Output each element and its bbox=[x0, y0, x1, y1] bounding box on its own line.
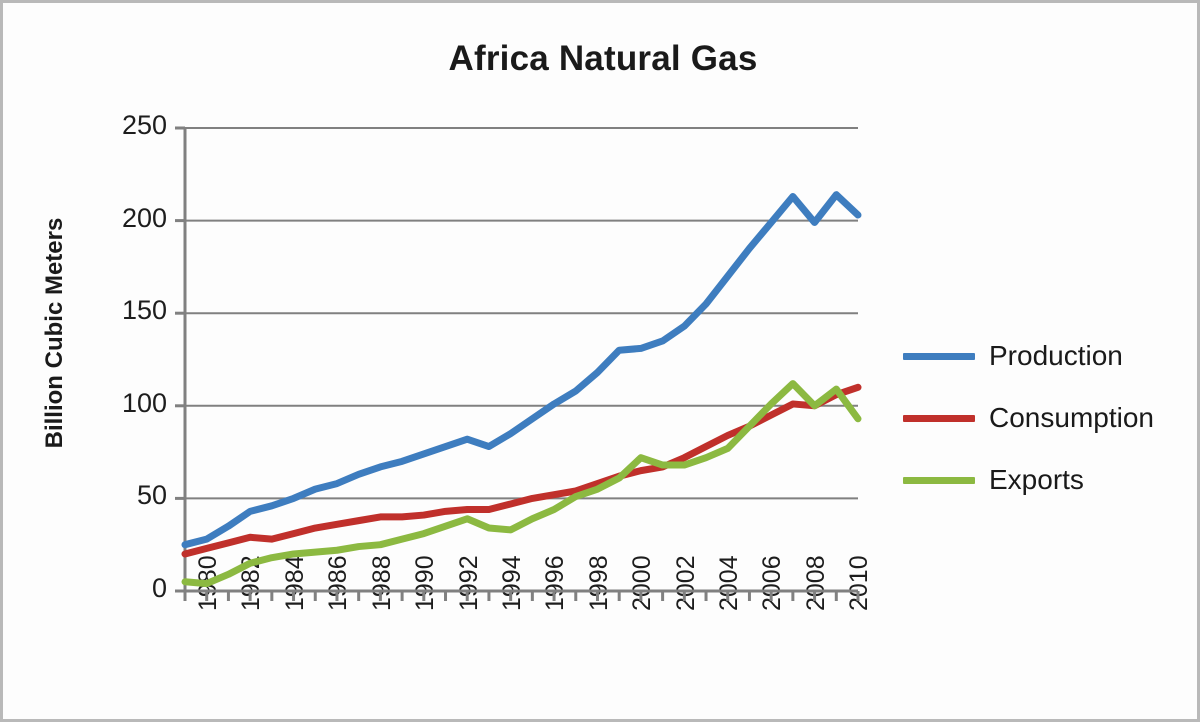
chart-container: Africa Natural Gas Billion Cubic Meters … bbox=[0, 0, 1200, 722]
series-line-consumption bbox=[185, 387, 858, 554]
data-series-layer bbox=[185, 195, 858, 584]
legend-item-exports[interactable]: Exports bbox=[903, 449, 1154, 511]
series-line-production bbox=[185, 195, 858, 545]
legend-item-label: Consumption bbox=[989, 404, 1154, 432]
gridlines bbox=[185, 128, 858, 498]
legend-color-swatch bbox=[903, 415, 975, 422]
legend-color-swatch bbox=[903, 353, 975, 360]
chart-legend: ProductionConsumptionExports bbox=[903, 325, 1154, 511]
legend-item-label: Exports bbox=[989, 466, 1084, 494]
legend-item-production[interactable]: Production bbox=[903, 325, 1154, 387]
legend-item-consumption[interactable]: Consumption bbox=[903, 387, 1154, 449]
legend-item-label: Production bbox=[989, 342, 1123, 370]
series-line-exports bbox=[185, 384, 858, 584]
legend-color-swatch bbox=[903, 477, 975, 484]
